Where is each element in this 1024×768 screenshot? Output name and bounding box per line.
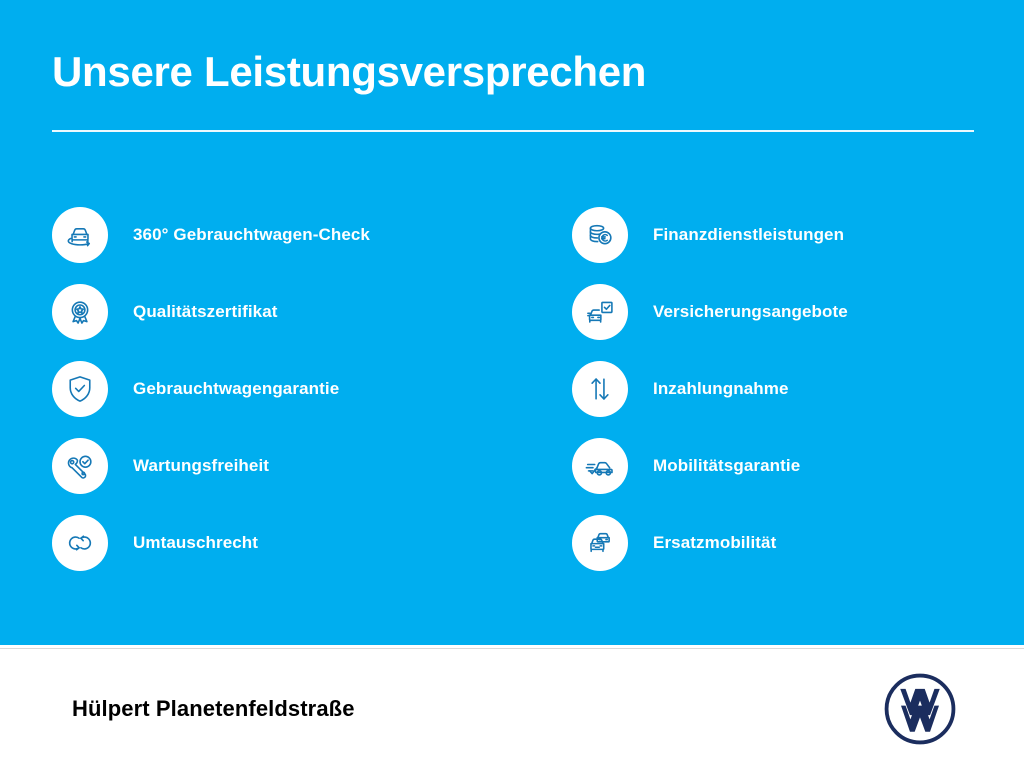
- car-360-check-icon: [52, 207, 108, 263]
- feature-item-inzahlungnahme[interactable]: Inzahlungnahme: [572, 350, 1024, 427]
- feature-label: Qualitätszertifikat: [133, 301, 278, 323]
- slide-root: Unsere Leistungsversprechen: [0, 0, 1024, 768]
- wrench-check-icon: [52, 438, 108, 494]
- footer-bar: Hülpert Planetenfeldstraße: [0, 649, 1024, 768]
- feature-label: Inzahlungnahme: [653, 378, 789, 400]
- two-cars-icon: [572, 515, 628, 571]
- feature-item-gebrauchtwagen-check[interactable]: 360° Gebrauchtwagen-Check: [52, 196, 522, 273]
- features-left-column: 360° Gebrauchtwagen-Check Qualitätszerti…: [52, 196, 522, 581]
- feature-item-versicherungsangebote[interactable]: Versicherungsangebote: [572, 273, 1024, 350]
- volkswagen-logo: [882, 671, 958, 747]
- feature-item-umtauschrecht[interactable]: Umtauschrecht: [52, 504, 522, 581]
- award-rosette-icon: [52, 284, 108, 340]
- title-divider: [52, 130, 974, 132]
- feature-item-wartungsfreiheit[interactable]: Wartungsfreiheit: [52, 427, 522, 504]
- shield-check-icon: [52, 361, 108, 417]
- up-down-arrows-icon: [572, 361, 628, 417]
- feature-item-gebrauchtwagengarantie[interactable]: Gebrauchtwagengarantie: [52, 350, 522, 427]
- feature-label: Umtauschrecht: [133, 532, 258, 554]
- feature-label: 360° Gebrauchtwagen-Check: [133, 224, 370, 246]
- dealer-name: Hülpert Planetenfeldstraße: [72, 696, 355, 722]
- car-document-check-icon: [572, 284, 628, 340]
- feature-label: Wartungsfreiheit: [133, 455, 269, 477]
- car-speed-icon: [572, 438, 628, 494]
- feature-label: Gebrauchtwagengarantie: [133, 378, 339, 400]
- features-grid: 360° Gebrauchtwagen-Check Qualitätszerti…: [0, 196, 1024, 596]
- page-title: Unsere Leistungsversprechen: [52, 47, 646, 97]
- exchange-arrows-icon: [52, 515, 108, 571]
- feature-item-qualitaetszertifikat[interactable]: Qualitätszertifikat: [52, 273, 522, 350]
- feature-label: Mobilitätsgarantie: [653, 455, 800, 477]
- feature-item-finanzdienstleistungen[interactable]: Finanzdienstleistungen: [572, 196, 1024, 273]
- feature-item-mobilitaetsgarantie[interactable]: Mobilitätsgarantie: [572, 427, 1024, 504]
- hero-panel: Unsere Leistungsversprechen: [0, 0, 1024, 645]
- feature-label: Ersatzmobilität: [653, 532, 776, 554]
- feature-label: Finanzdienstleistungen: [653, 224, 844, 246]
- features-right-column: Finanzdienstleistungen: [572, 196, 1024, 581]
- feature-label: Versicherungsangebote: [653, 301, 848, 323]
- feature-item-ersatzmobilitaet[interactable]: Ersatzmobilität: [572, 504, 1024, 581]
- coins-euro-icon: [572, 207, 628, 263]
